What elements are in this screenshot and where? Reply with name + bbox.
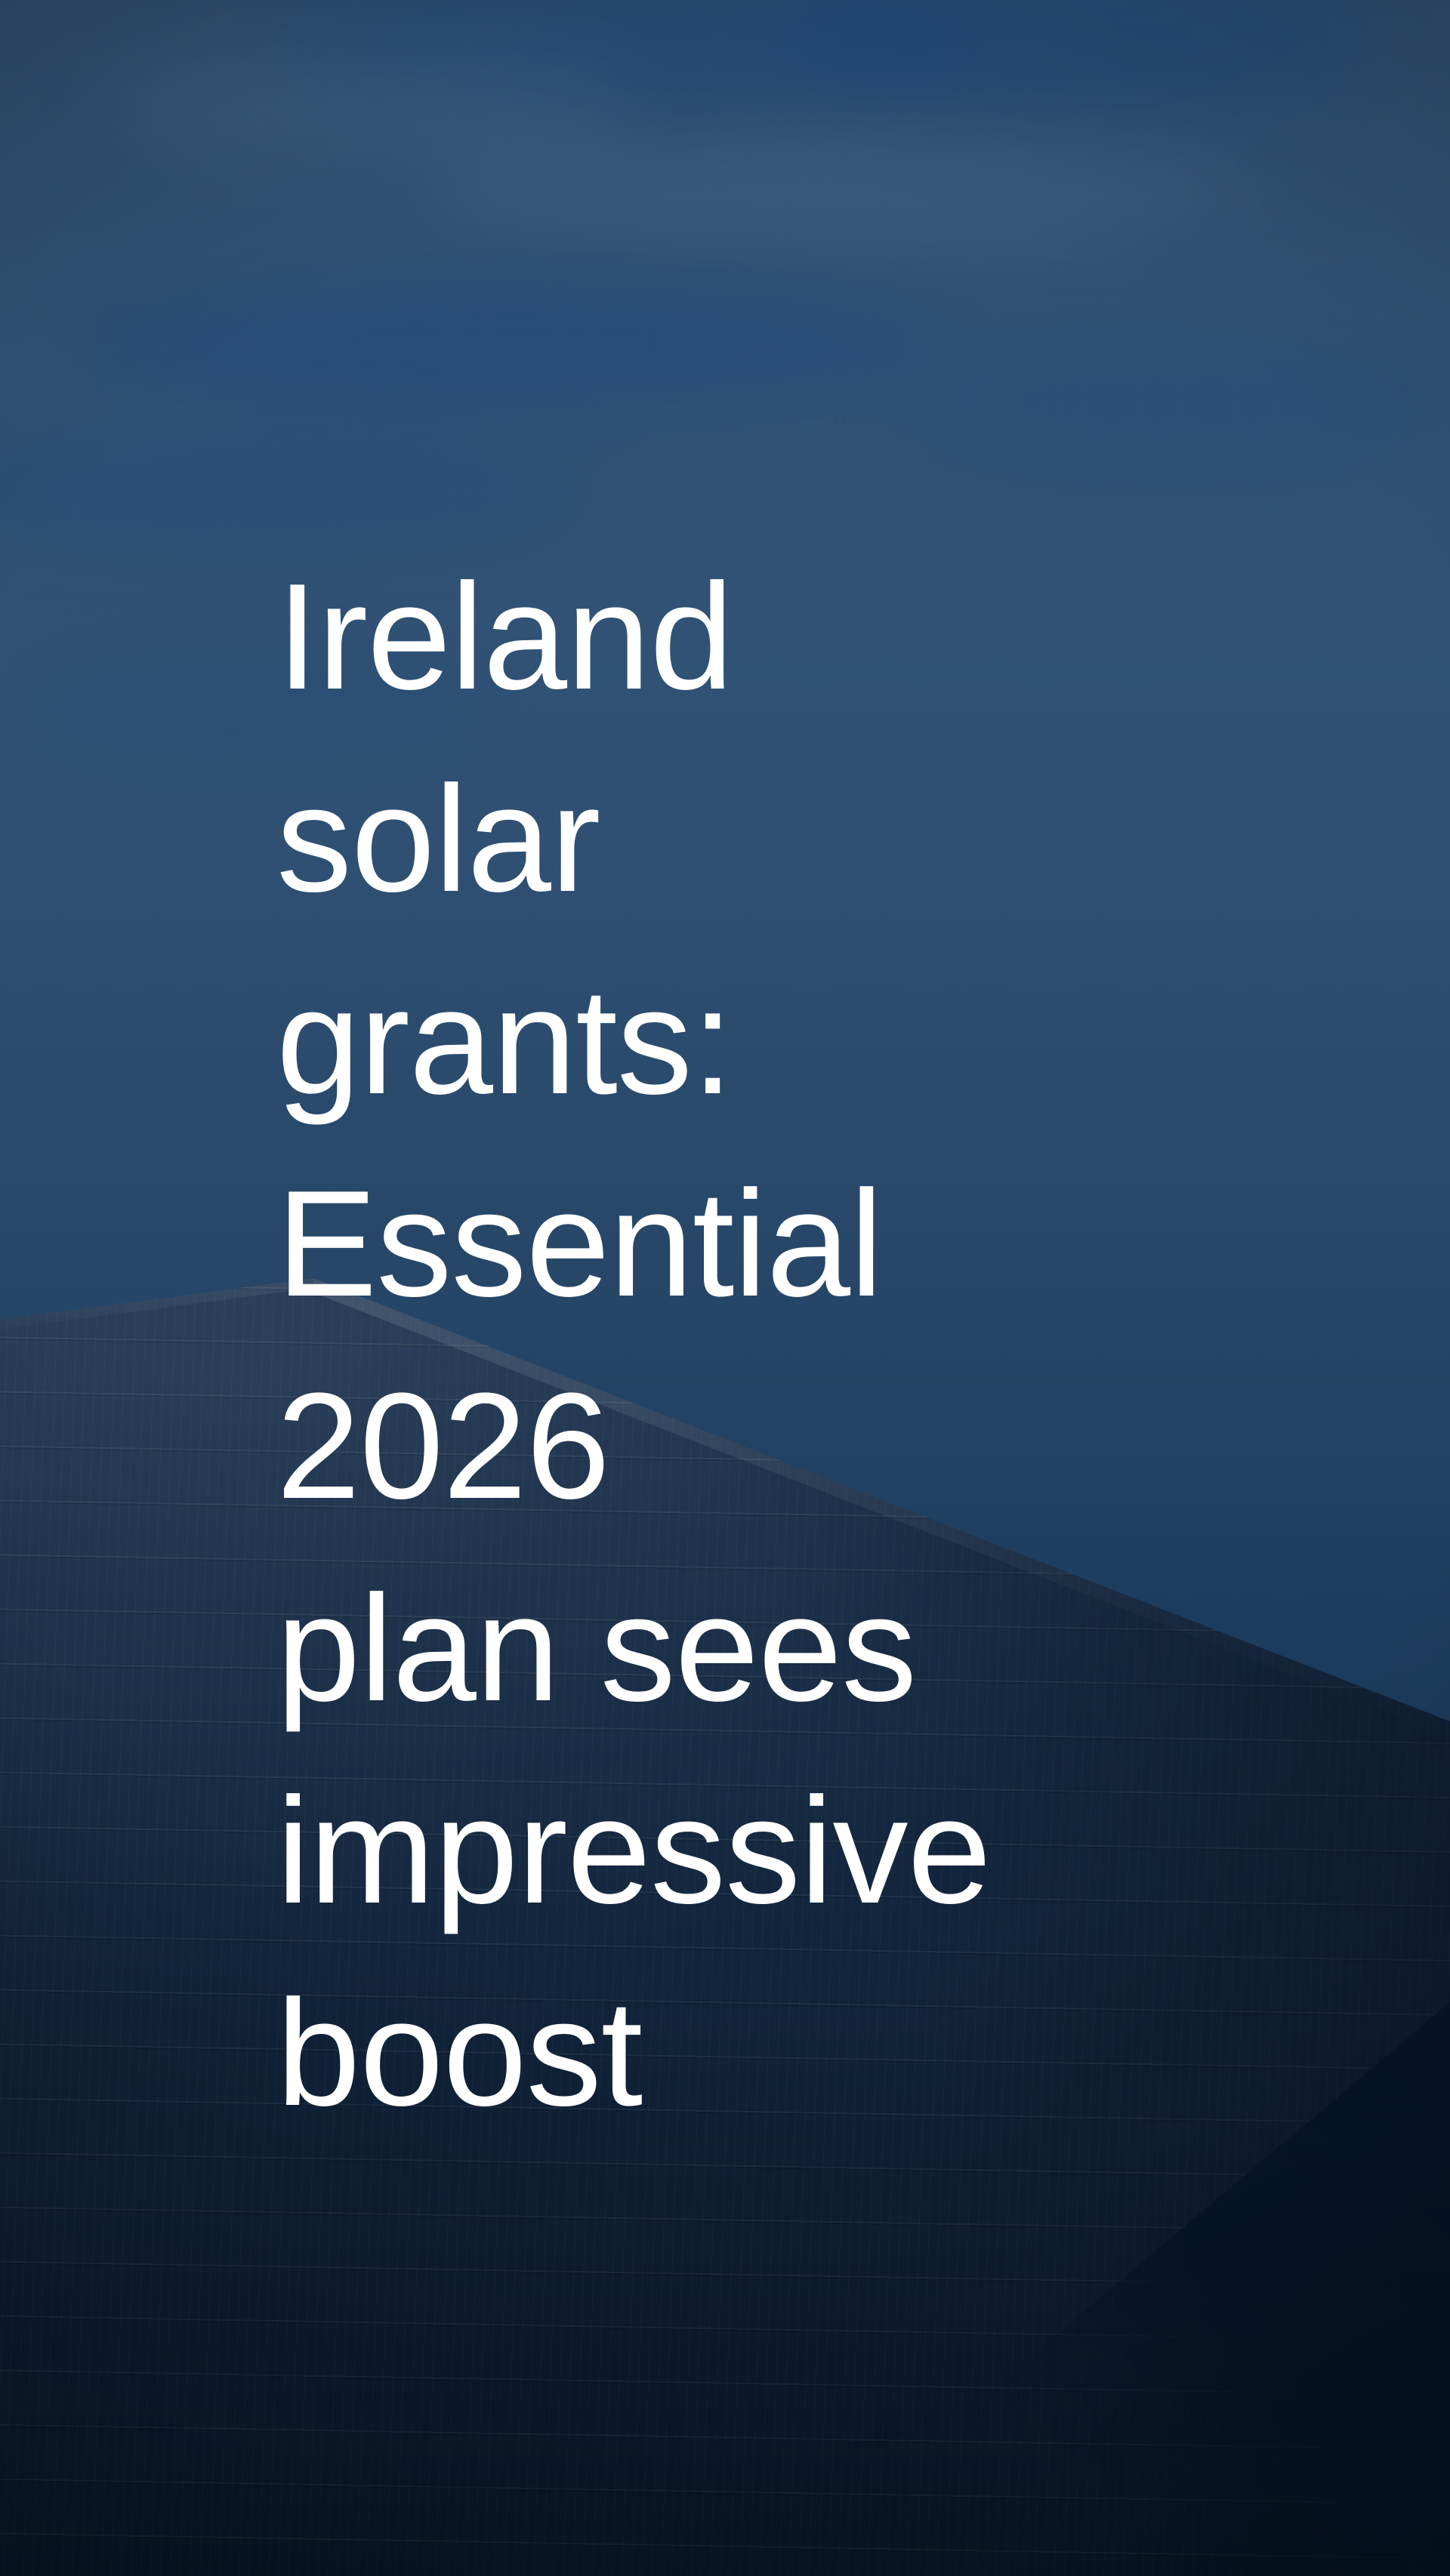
article-hero-card: Ireland solar grants: Essential 2026 pla… [0,0,1450,2576]
page-title: Ireland solar grants: Essential 2026 pla… [276,536,1379,2155]
